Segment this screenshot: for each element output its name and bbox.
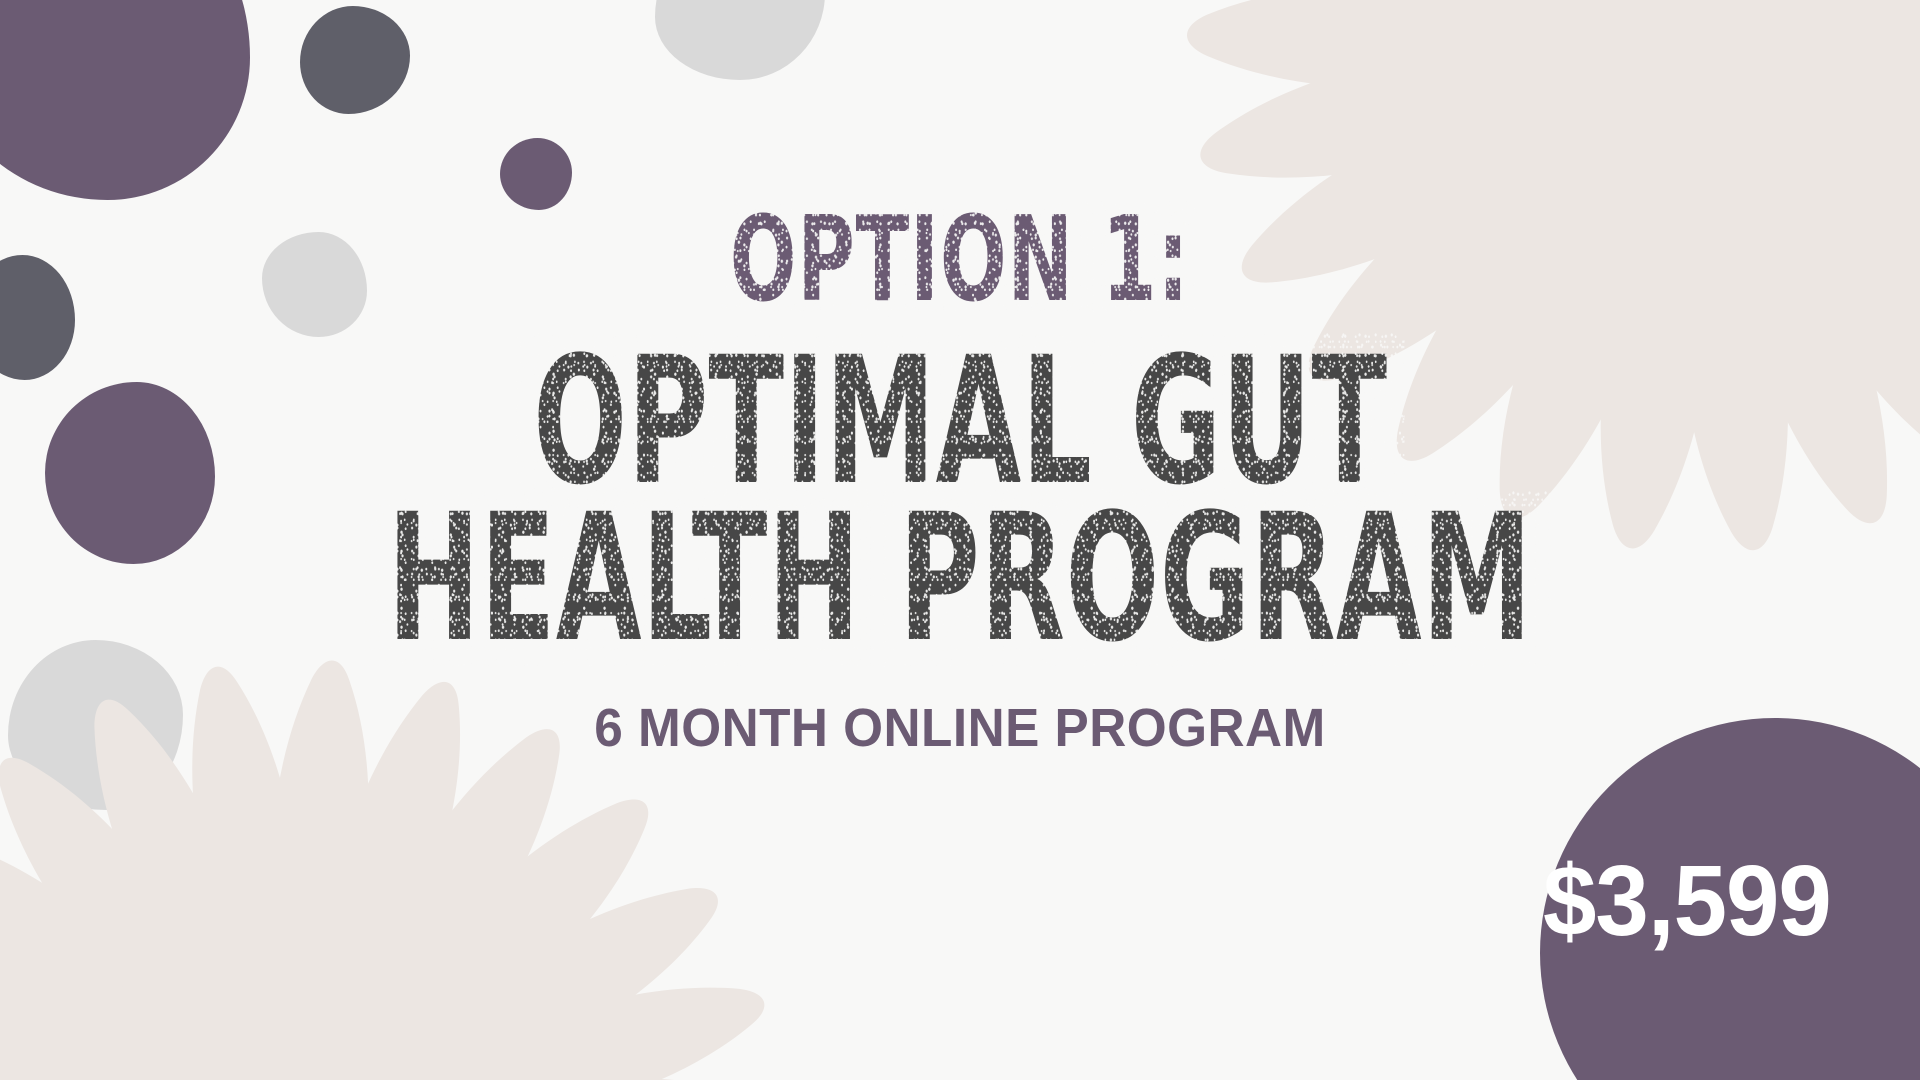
eyebrow-option-label: OPTION 1: [730, 205, 1190, 314]
subheadline-duration: 6 MONTH ONLINE PROGRAM [594, 701, 1326, 755]
headline-line-2: HEALTH PROGRAM [388, 497, 1533, 661]
promo-slide: OPTION 1: OPTIMAL GUT HEALTH PROGRAM 6 M… [0, 0, 1920, 1080]
price-value: $3,599 [1543, 844, 1831, 959]
